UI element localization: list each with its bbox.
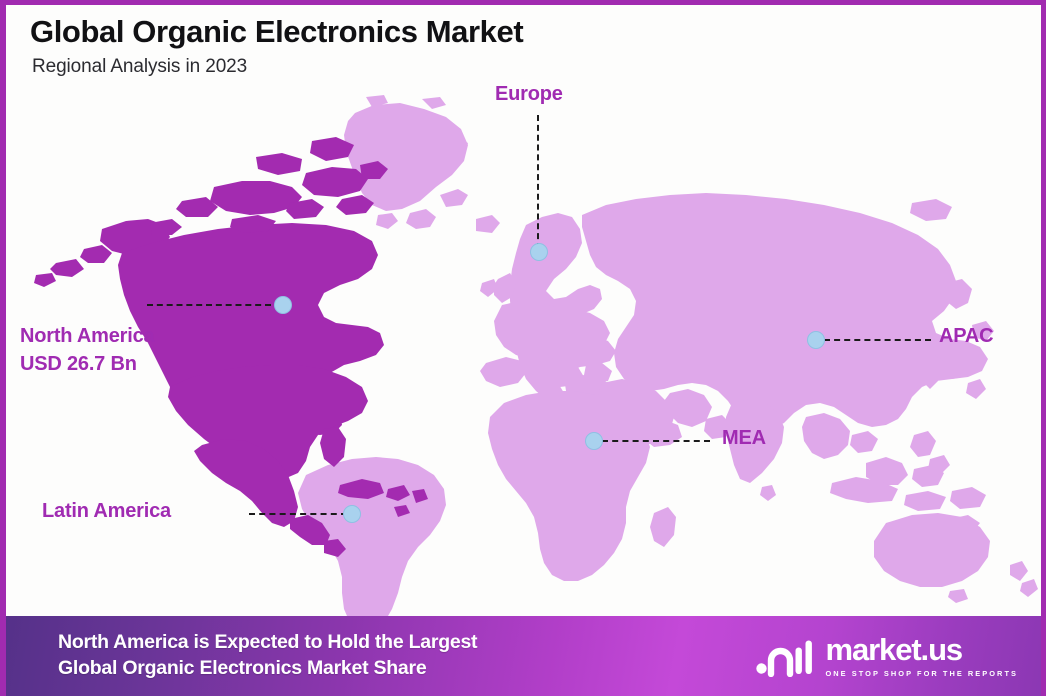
- map-marker-mea[interactable]: [585, 432, 603, 450]
- region-label-apac: APAC: [939, 325, 993, 348]
- logo-text-block: market.us ONE STOP SHOP FOR THE REPORTS: [825, 634, 1018, 678]
- region-label-mea: MEA: [722, 427, 766, 450]
- logo-tagline: ONE STOP SHOP FOR THE REPORTS: [825, 669, 1018, 678]
- banner-headline-line1: North America is Expected to Hold the La…: [58, 630, 477, 656]
- leader-line-north-america: [147, 304, 271, 306]
- world-map-svg: [6, 83, 1046, 623]
- infographic-frame: Global Organic Electronics Market Region…: [0, 0, 1046, 696]
- region-label-latin-america-text: Latin America: [42, 500, 171, 522]
- region-label-north-america: North America USD 26.7 Bn: [20, 323, 154, 378]
- logo-wordmark: market.us: [825, 634, 1018, 665]
- map-marker-apac[interactable]: [807, 331, 825, 349]
- world-map: [6, 83, 1046, 623]
- leader-line-mea: [602, 440, 710, 442]
- region-label-mea-text: MEA: [722, 427, 766, 449]
- region-label-latin-america: Latin America: [42, 500, 171, 523]
- banner-headline: North America is Expected to Hold the La…: [58, 630, 477, 681]
- brand-logo[interactable]: market.us ONE STOP SHOP FOR THE REPORTS: [756, 634, 1028, 678]
- region-label-apac-text: APAC: [939, 325, 993, 347]
- header: Global Organic Electronics Market Region…: [30, 15, 830, 78]
- leader-line-europe: [537, 115, 539, 249]
- map-marker-europe[interactable]: [530, 243, 548, 261]
- region-label-europe-text: Europe: [495, 83, 563, 105]
- map-marker-latin-america[interactable]: [343, 505, 361, 523]
- region-label-europe: Europe: [495, 83, 563, 106]
- page-title: Global Organic Electronics Market: [30, 15, 830, 50]
- region-value-north-america: USD 26.7 Bn: [20, 351, 154, 379]
- region-label-north-america-text: North America: [20, 325, 154, 347]
- market-us-logo-mark-icon: [756, 635, 814, 677]
- leader-line-apac: [824, 339, 931, 341]
- footer-banner: North America is Expected to Hold the La…: [6, 616, 1046, 696]
- leader-line-latin-america: [249, 513, 347, 515]
- map-marker-north-america[interactable]: [274, 296, 292, 314]
- banner-headline-line2: Global Organic Electronics Market Share: [58, 656, 477, 682]
- page-subtitle: Regional Analysis in 2023: [32, 56, 830, 78]
